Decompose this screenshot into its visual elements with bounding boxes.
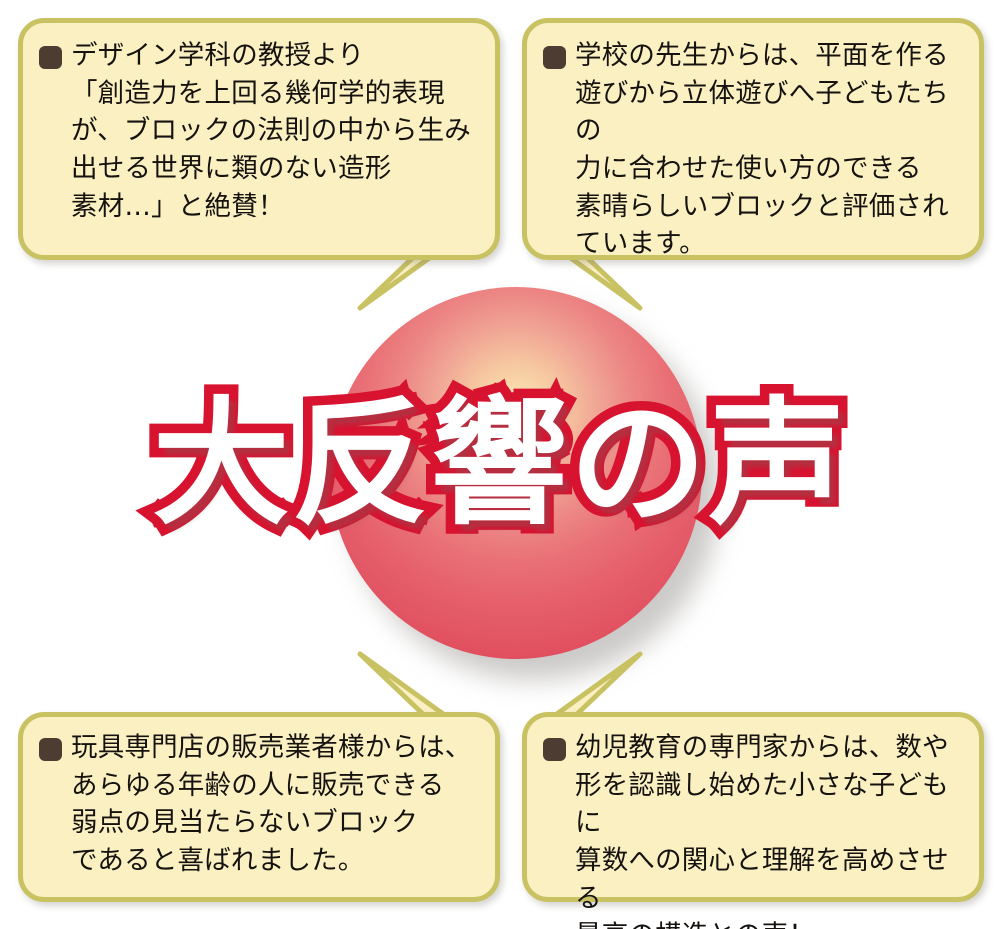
testimonial-bubble-top-right: 学校の先生からは、平面を作る 遊びから立体遊びへ子どもたちの 力に合わせた使い方… [522, 18, 984, 260]
testimonial-text-bottom-left: 玩具専門店の販売業者様からは、 あらゆる年齢の人に販売できる 弱点の見当たらない… [71, 729, 472, 880]
square-bullet-icon [39, 46, 62, 69]
testimonial-text-top-right: 学校の先生からは、平面を作る 遊びから立体遊びへ子どもたちの 力に合わせた使い方… [575, 37, 967, 263]
testimonial-bubble-top-left: デザイン学科の教授より 「創造力を上回る幾何学的表現 が、ブロックの法則の中から… [18, 18, 500, 260]
testimonial-text-bottom-right: 幼児教育の専門家からは、数や 形を認識し始めた小さな子どもに 算数への関心と理解… [575, 729, 967, 929]
square-bullet-icon [543, 738, 566, 761]
square-bullet-icon [39, 738, 62, 761]
square-bullet-icon [543, 46, 566, 69]
poster-canvas: 大反響の声 デザイン学科の教授より 「創造力を上回る幾何学的表現 が、ブロックの… [0, 0, 1000, 929]
testimonial-bubble-bottom-right: 幼児教育の専門家からは、数や 形を認識し始めた小さな子どもに 算数への関心と理解… [522, 712, 984, 902]
red-sphere-graphic [330, 287, 702, 659]
testimonial-bubble-bottom-left: 玩具専門店の販売業者様からは、 あらゆる年齢の人に販売できる 弱点の見当たらない… [18, 712, 500, 902]
testimonial-text-top-left: デザイン学科の教授より 「創造力を上回る幾何学的表現 が、ブロックの法則の中から… [71, 37, 471, 225]
